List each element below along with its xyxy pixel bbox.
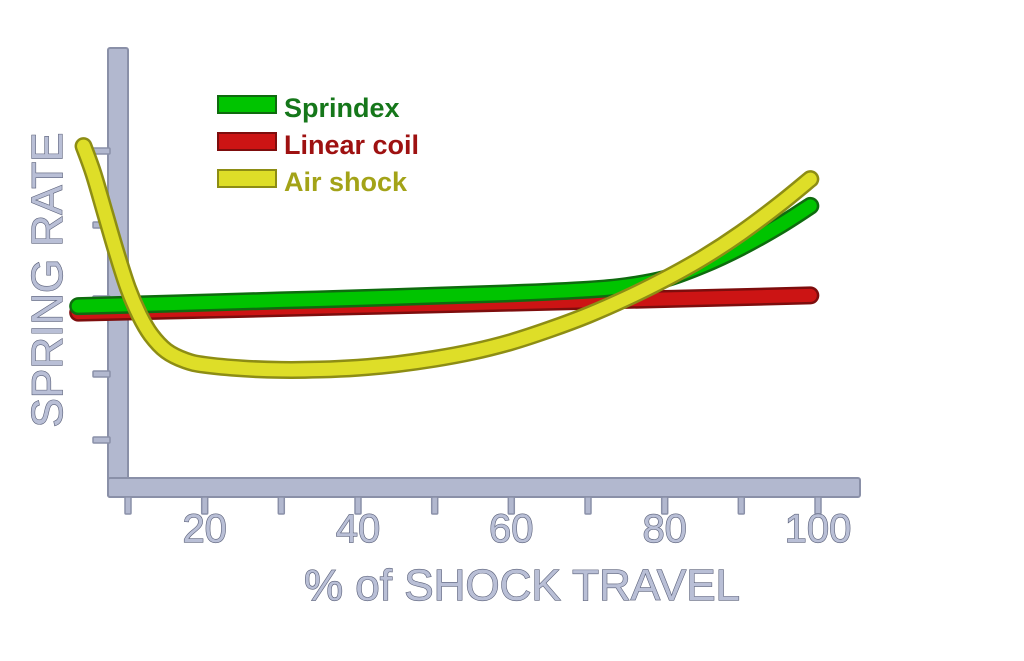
axis-group bbox=[108, 48, 860, 497]
x-tick-30 bbox=[278, 497, 284, 514]
legend-swatch bbox=[218, 133, 276, 150]
spring-rate-chart: 20406080100 % of SHOCK TRAVEL SPRING RAT… bbox=[0, 0, 1024, 661]
x-tick-90 bbox=[738, 497, 744, 514]
y-tick-5 bbox=[93, 437, 110, 443]
x-tick-label-40: 40 bbox=[336, 507, 381, 551]
chart-container: 20406080100 % of SHOCK TRAVEL SPRING RAT… bbox=[0, 0, 1024, 661]
x-tick-label-100: 100 bbox=[785, 507, 852, 551]
x-tick-10 bbox=[125, 497, 131, 514]
x-axis-ticks bbox=[125, 497, 821, 514]
series-line bbox=[84, 146, 811, 370]
x-axis-title: % of SHOCK TRAVEL bbox=[304, 561, 740, 610]
x-tick-70 bbox=[585, 497, 591, 514]
x-axis-bar bbox=[108, 478, 860, 497]
legend-swatch bbox=[218, 170, 276, 187]
legend-swatch bbox=[218, 96, 276, 113]
series-air-shock bbox=[84, 146, 811, 370]
x-tick-label-60: 60 bbox=[489, 507, 534, 551]
legend-label: Air shock bbox=[284, 167, 408, 197]
legend-item-air-shock[interactable]: Air shock bbox=[218, 167, 408, 197]
x-tick-label-80: 80 bbox=[642, 507, 687, 551]
legend-item-sprindex[interactable]: Sprindex bbox=[218, 93, 400, 123]
x-tick-label-20: 20 bbox=[182, 507, 227, 551]
y-tick-4 bbox=[93, 371, 110, 377]
y-axis-title: SPRING RATE bbox=[23, 132, 72, 427]
legend-item-linear-coil[interactable]: Linear coil bbox=[218, 130, 419, 160]
x-tick-50 bbox=[432, 497, 438, 514]
chart-legend: SprindexLinear coilAir shock bbox=[218, 93, 419, 197]
legend-label: Linear coil bbox=[284, 130, 419, 160]
series-group bbox=[78, 146, 810, 370]
legend-label: Sprindex bbox=[284, 93, 400, 123]
